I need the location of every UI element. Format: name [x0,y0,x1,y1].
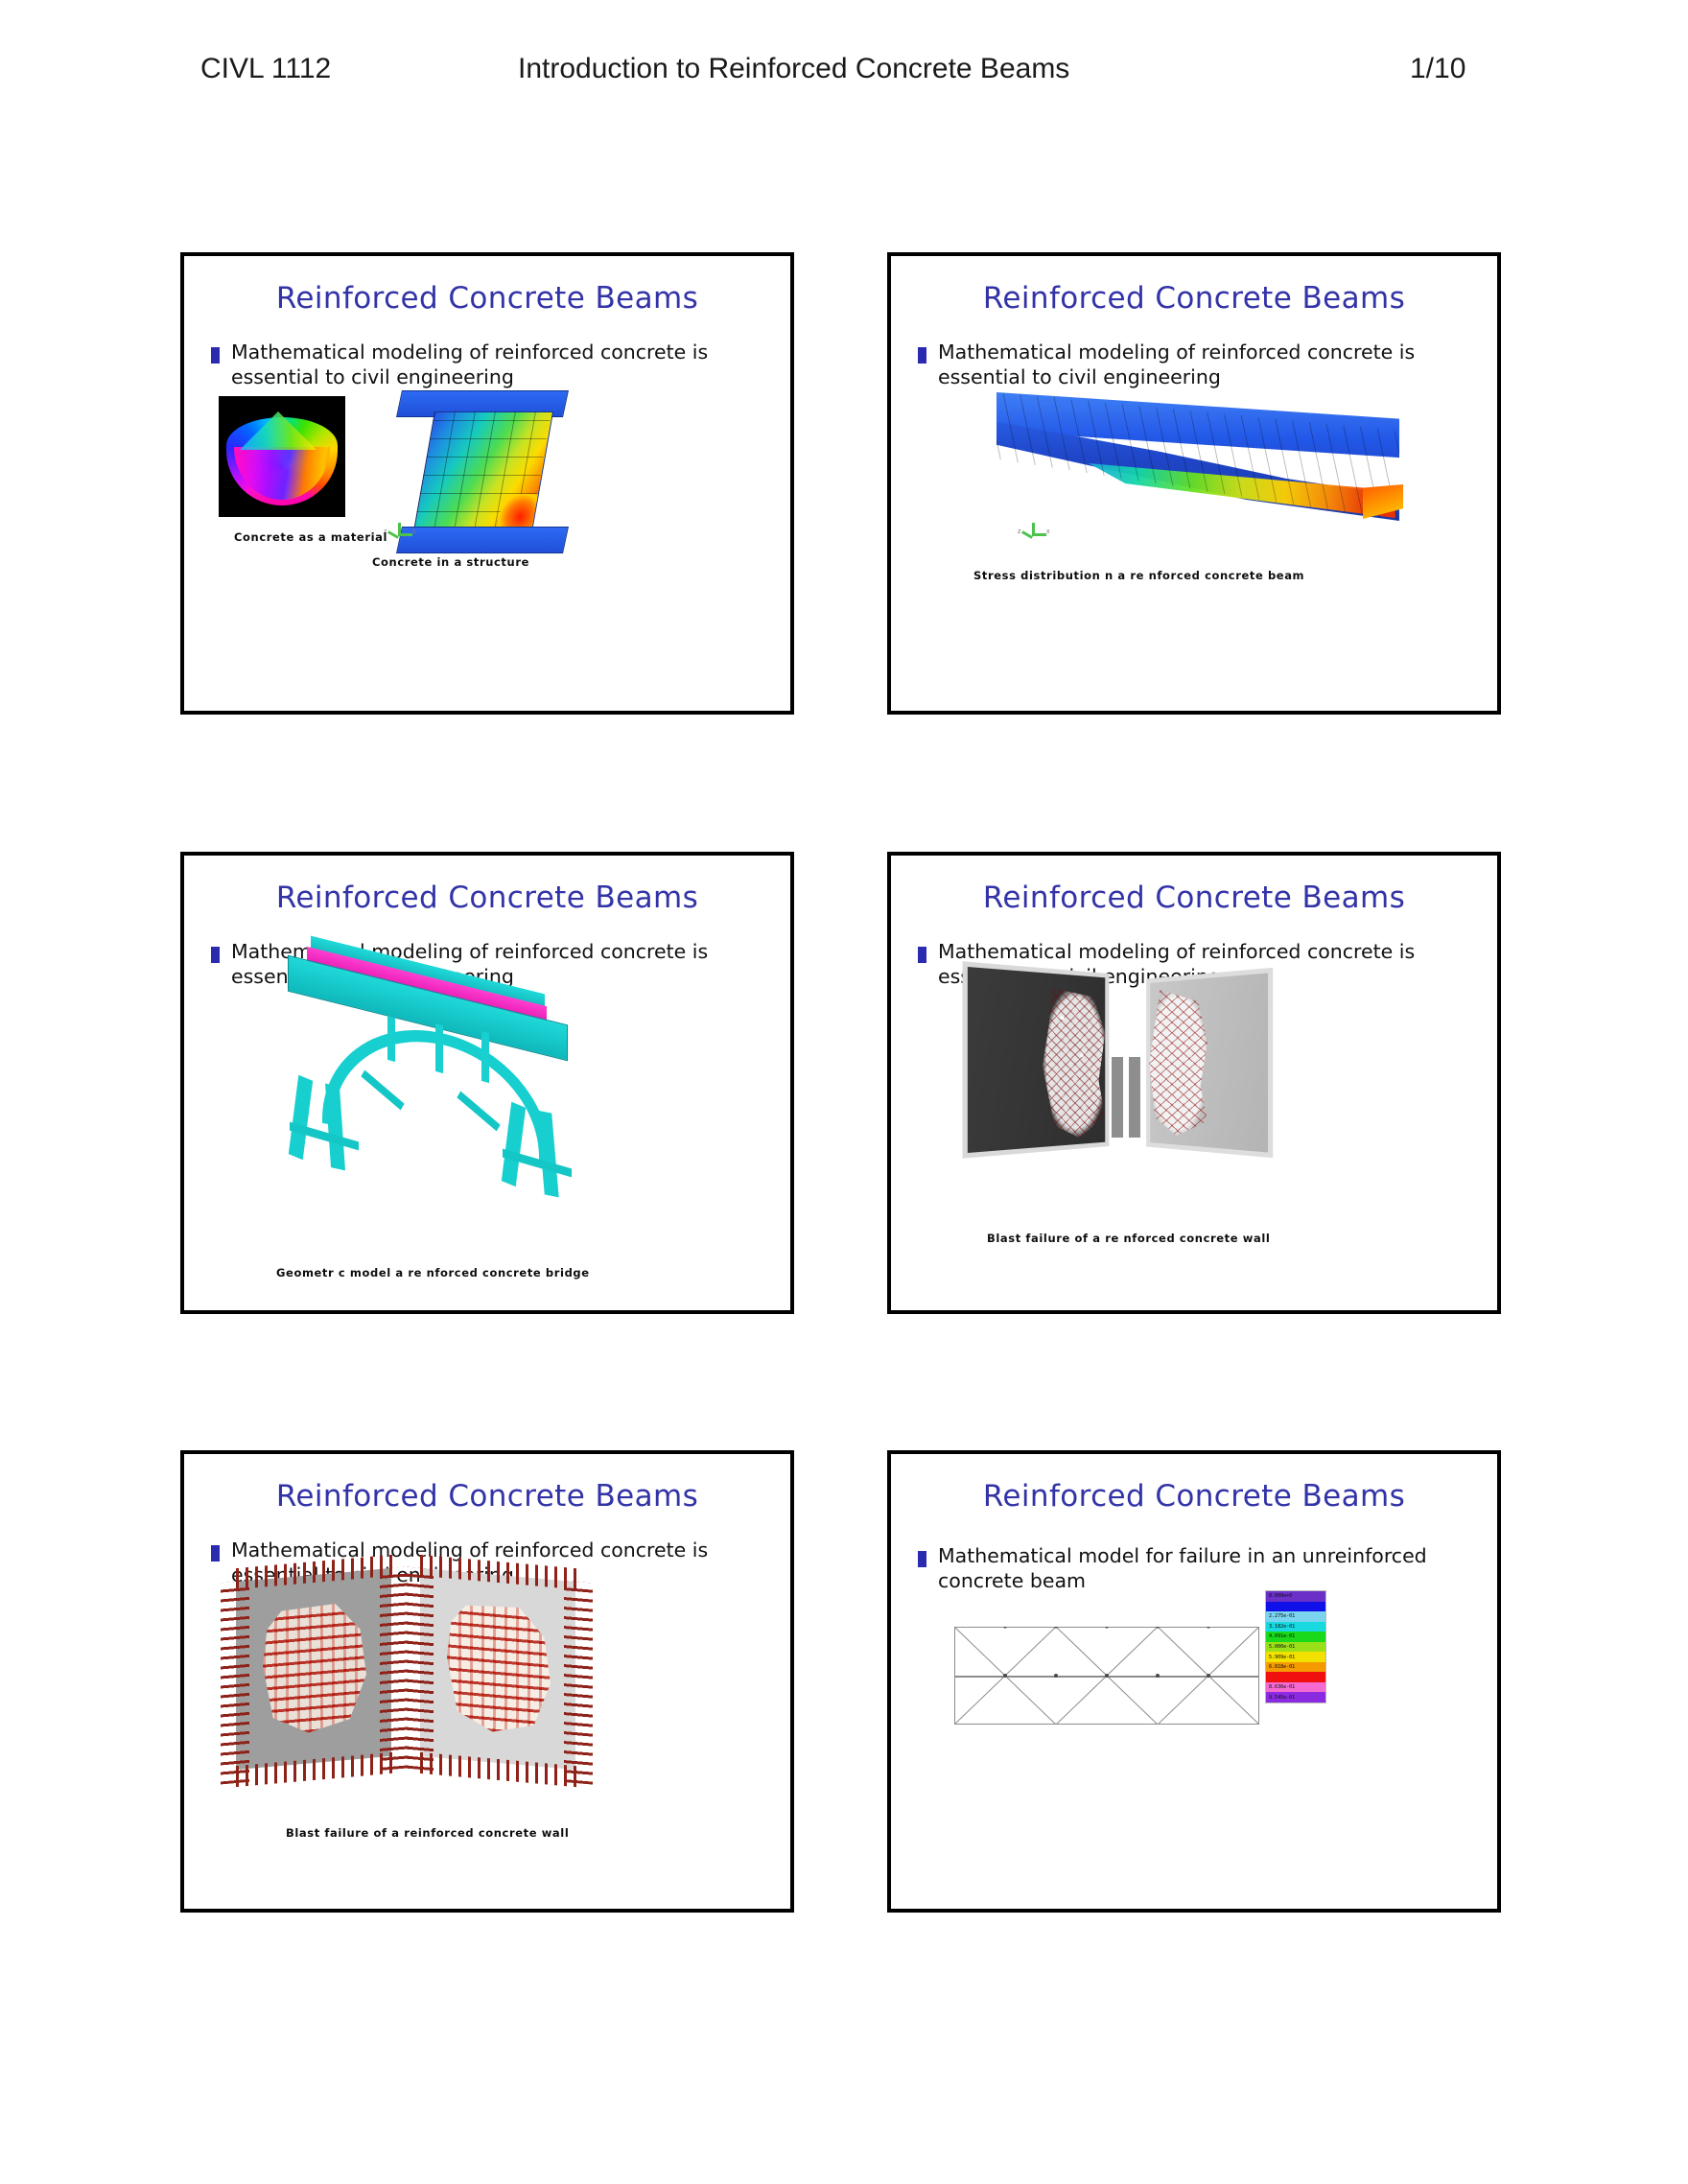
rebar-wall-right [420,1568,575,1770]
slide-3[interactable]: Reinforced Concrete Beams Mathematical m… [180,852,794,1314]
bullet-marker-icon [918,1551,926,1567]
wall-gap [1112,1057,1123,1138]
legend-swatch: 9.545e-01 [1266,1692,1325,1703]
bullet-marker-icon [918,347,926,364]
legend-label: 5.000e-01 [1269,1644,1295,1650]
slide-3-caption-1: Geometr c model a re nforced concrete br… [276,1266,590,1280]
slide-4-caption-1: Blast failure of a re nforced concrete w… [987,1232,1270,1245]
blast-hole-rebar-mesh [447,1601,551,1736]
slide-1-caption-1: Concrete as a material [234,530,387,544]
wall-gap [1129,1057,1140,1138]
legend-label: 3.182e-01 [1269,1624,1295,1630]
legend-swatch: 5.000e-01 [1266,1642,1325,1653]
handout-page: CIVL 1112 Introduction to Reinforced Con… [0,0,1688,2184]
concrete-structure-fea-image: zx [386,383,577,561]
legend-swatch: 8.000e+0 [1266,1591,1325,1602]
slide-4-title: Reinforced Concrete Beams [891,881,1497,915]
bullet-marker-icon [211,347,220,364]
bridge-leg [537,1111,558,1198]
slide-2[interactable]: Reinforced Concrete Beams Mathematical m… [887,252,1501,715]
rebar-edge [221,1581,249,1785]
slide-6-title: Reinforced Concrete Beams [891,1479,1497,1514]
slide-6[interactable]: Reinforced Concrete Beams Mathematical m… [887,1450,1501,1913]
beam-mesh-lines [996,392,1399,521]
slide-5[interactable]: Reinforced Concrete Beams Mathematical m… [180,1450,794,1913]
bridge-hanger [435,1023,443,1073]
rebar-blast-wall-image [228,1562,589,1792]
rebar-bottom [420,1752,581,1788]
legend-swatch: 3.182e-01 [1266,1622,1325,1632]
bullet-marker-icon [918,947,926,963]
bridge-hanger [481,1031,489,1083]
bridge-leg [289,1075,313,1160]
legend-swatch: 6.818e-01 [1266,1662,1325,1673]
axis-triad-icon: zx [384,523,416,548]
slide-5-title: Reinforced Concrete Beams [184,1479,790,1514]
rebar-bottom [236,1751,397,1787]
rebar-edge [564,1581,593,1785]
concrete-material-image [219,396,345,517]
slide-1-title: Reinforced Concrete Beams [184,281,790,316]
blast-failure-wall-render [960,961,1277,1167]
rebar-wall-left [236,1568,391,1770]
legend-swatch: 5.909e-01 [1266,1652,1325,1662]
flange-bottom [396,527,569,553]
slide-1-caption-2: Concrete in a structure [372,555,529,569]
stress-hotspot [498,494,538,527]
slide-4[interactable]: Reinforced Concrete Beams Mathematical m… [887,852,1501,1314]
legend-label: 2.275e-01 [1269,1613,1295,1619]
slide-6-bullet-text: Mathematical model for failure in an unr… [938,1544,1476,1594]
bridge-hanger [387,1016,395,1062]
legend-label: 8.636e-01 [1269,1684,1295,1690]
blast-hole-rebar-mesh [263,1601,366,1736]
axis-triad-icon: zx [1018,523,1050,548]
legend-swatch [1266,1672,1325,1682]
bullet-marker-icon [211,1545,220,1562]
slide-grid: Reinforced Concrete Beams Mathematical m… [0,0,1688,2184]
bullet-marker-icon [211,947,220,963]
rebar-edge [405,1567,434,1772]
slide-6-bullet: Mathematical model for failure in an unr… [918,1544,1476,1594]
slide-2-caption-1: Stress distribution n a re nforced concr… [973,569,1304,582]
slide-3-title: Reinforced Concrete Beams [184,881,790,915]
slide-5-caption-1: Blast failure of a reinforced concrete w… [286,1826,569,1840]
legend-swatch [1266,1602,1325,1612]
legend-label: 4.091e-01 [1269,1633,1295,1639]
legend-label: 8.000e+0 [1269,1593,1292,1599]
slide-1[interactable]: Reinforced Concrete Beams Mathematical m… [180,252,794,715]
legend-swatch: 8.636e-01 [1266,1682,1325,1693]
legend-swatch: 2.275e-01 [1266,1611,1325,1622]
debris-field-right [1148,990,1207,1136]
legend-label: 5.909e-01 [1269,1655,1295,1660]
truss-diagonals [954,1627,1259,1725]
concrete-bridge-model-image [272,963,589,1182]
legend-label: 9.545e-01 [1269,1695,1295,1701]
slide-2-title: Reinforced Concrete Beams [891,281,1497,316]
legend-swatch: 4.091e-01 [1266,1632,1325,1642]
legend-label: 6.818e-01 [1269,1664,1295,1670]
stress-color-legend: 8.000e+0 2.275e-01 3.182e-01 4.091e-01 5… [1265,1590,1326,1703]
stress-distribution-beam-image: zx [996,371,1399,553]
unreinforced-beam-truss-model [954,1627,1259,1725]
